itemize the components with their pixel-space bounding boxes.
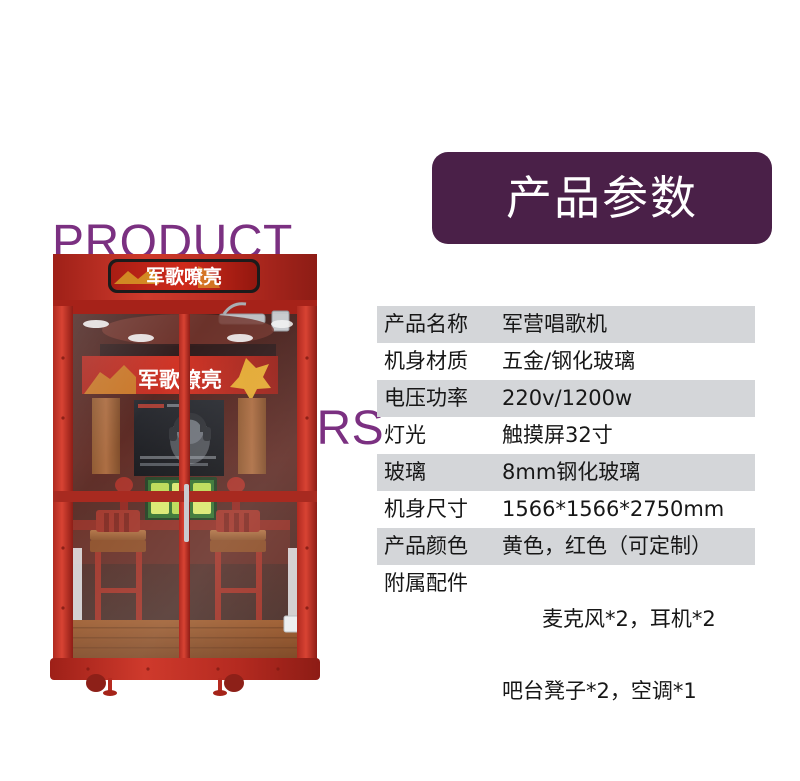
spec-value-line-1: 麦克风*2，耳机*2 <box>542 607 716 631</box>
product-image: 军歌嘹亮 军歌嘹亮 <box>48 248 328 696</box>
section-badge: 产品参数 <box>432 152 772 244</box>
table-row: 附属配件 麦克风*2，耳机*2 吧台凳子*2，空调*1 <box>377 565 755 633</box>
booth-top-sign: 军歌嘹亮 <box>108 259 260 293</box>
spec-label: 机身材质 <box>384 343 502 379</box>
table-row: 灯光 触摸屏32寸 <box>377 417 755 454</box>
table-row: 产品名称 军营唱歌机 <box>377 306 755 343</box>
spec-value: 黄色，红色（可定制） <box>502 528 712 564</box>
spec-label: 产品颜色 <box>384 528 502 564</box>
spec-label: 玻璃 <box>384 454 502 490</box>
spec-value: 触摸屏32寸 <box>502 417 613 453</box>
spec-value: 220v/1200w <box>502 380 632 416</box>
spec-label: 电压功率 <box>384 380 502 416</box>
spec-table: 产品名称 军营唱歌机 机身材质 五金/钢化玻璃 电压功率 220v/1200w … <box>377 306 755 633</box>
spec-label: 附属配件 <box>384 565 502 601</box>
spec-value: 麦克风*2，耳机*2 吧台凳子*2，空调*1 <box>502 565 716 781</box>
table-row: 机身尺寸 1566*1566*2750mm <box>377 491 755 528</box>
spec-value-line-2: 吧台凳子*2，空调*1 <box>502 673 716 709</box>
section-badge-label: 产品参数 <box>506 175 698 221</box>
spec-value: 8mm钢化玻璃 <box>502 454 640 490</box>
spec-label: 产品名称 <box>384 306 502 342</box>
spec-value: 军营唱歌机 <box>502 306 607 342</box>
spec-value: 1566*1566*2750mm <box>502 491 724 527</box>
spec-value: 五金/钢化玻璃 <box>502 343 635 379</box>
table-row: 玻璃 8mm钢化玻璃 <box>377 454 755 491</box>
door-handle[interactable] <box>184 484 189 542</box>
caster-wheel-left <box>86 674 106 692</box>
caster-wheel-right <box>224 674 244 692</box>
table-row: 机身材质 五金/钢化玻璃 <box>377 343 755 380</box>
table-row: 电压功率 220v/1200w <box>377 380 755 417</box>
spec-label: 机身尺寸 <box>384 491 502 527</box>
table-row: 产品颜色 黄色，红色（可定制） <box>377 528 755 565</box>
booth-top-sign-text: 军歌嘹亮 <box>146 265 222 288</box>
spec-label: 灯光 <box>384 417 502 453</box>
